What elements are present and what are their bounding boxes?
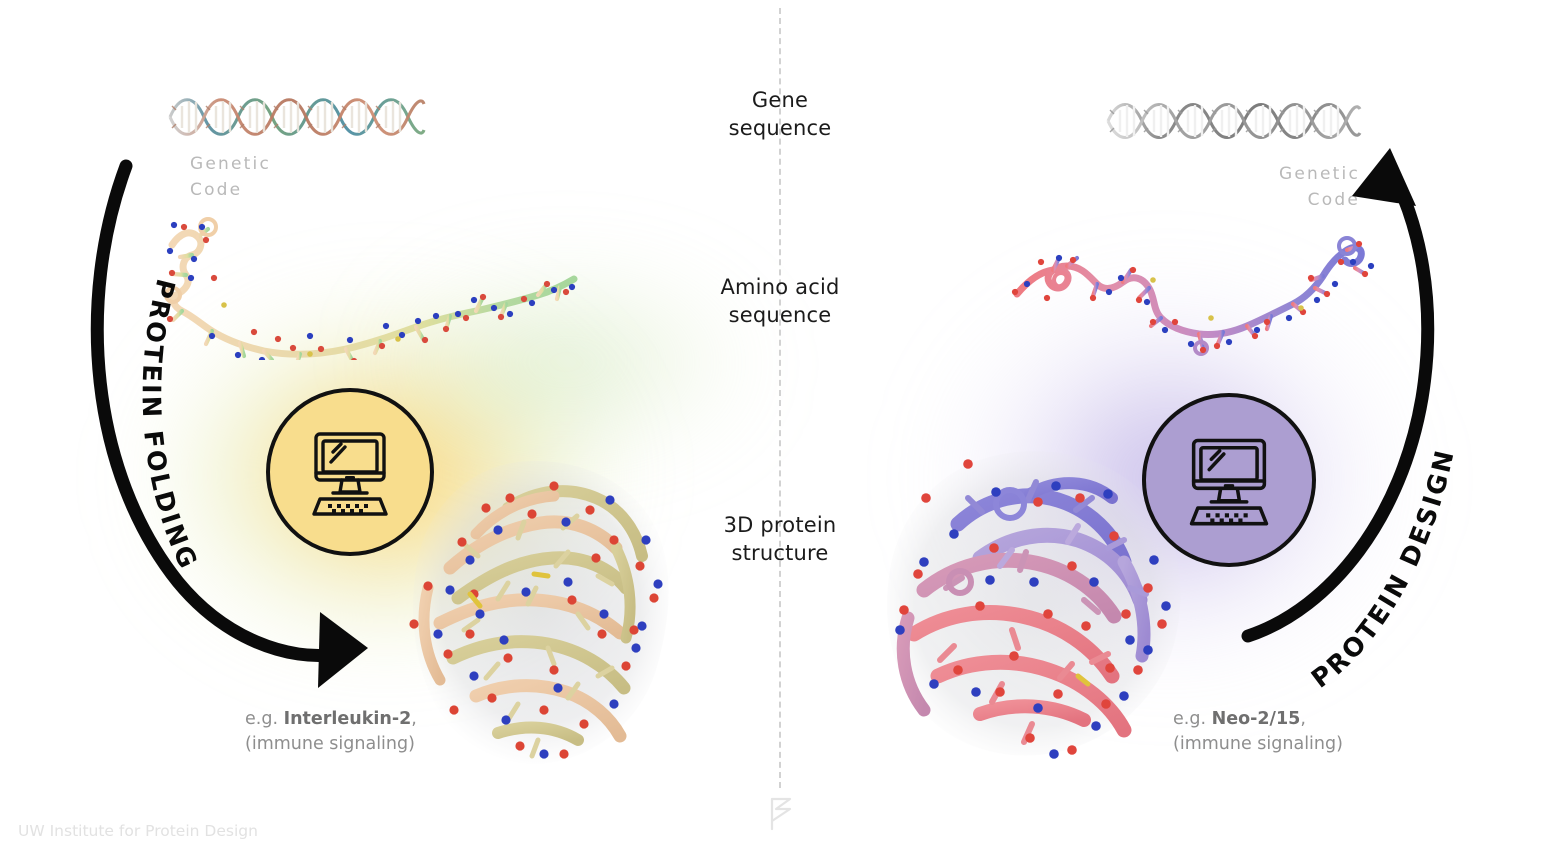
genetic-code-label-right: Genetic Code (1170, 162, 1360, 213)
gene-sequence-line2: sequence (630, 114, 930, 142)
protein-design-label: PROTEIN DESIGN (1306, 446, 1461, 695)
label-3d-protein-structure: 3D protein structure (630, 511, 930, 568)
genetic-code-line1: Genetic (1170, 162, 1360, 188)
genetic-code-line2: Code (190, 178, 271, 204)
caption-protein-name: Neo-2/15 (1212, 709, 1301, 729)
genetic-code-label-left: Genetic Code (190, 152, 271, 203)
amino-acid-line1: Amino acid (630, 273, 930, 301)
caption-line2: (immune signaling) (245, 732, 417, 757)
diagram-canvas: Genetic Code (0, 0, 1560, 849)
caption-suffix: , (411, 709, 417, 729)
caption-prefix: e.g. (245, 709, 284, 729)
extended-peptide-chain-icon (150, 215, 580, 360)
watermark-logo-icon (756, 793, 804, 835)
desktop-computer-icon-design[interactable] (1142, 393, 1316, 567)
desktop-computer-icon (1177, 428, 1281, 532)
example-caption-left: e.g. Interleukin-2, (immune signaling) (245, 707, 417, 757)
caption-prefix: e.g. (1173, 709, 1212, 729)
caption-suffix: , (1300, 709, 1306, 729)
dna-double-helix-color-icon (168, 86, 426, 148)
desktop-computer-icon-folding[interactable] (266, 388, 434, 556)
protein-structure-line1: 3D protein (630, 511, 930, 539)
attribution-text: UW Institute for Protein Design (18, 822, 258, 840)
label-amino-acid-sequence: Amino acid sequence (630, 273, 930, 330)
genetic-code-line2: Code (1170, 188, 1360, 214)
protein-structure-line2: structure (630, 539, 930, 567)
caption-protein-name: Interleukin-2 (284, 709, 412, 729)
protein-design-arrow (1248, 148, 1428, 636)
example-caption-right: e.g. Neo-2/15, (immune signaling) (1173, 707, 1343, 757)
label-gene-sequence: Gene sequence (630, 86, 930, 143)
amino-acid-line2: sequence (630, 301, 930, 329)
caption-line2: (immune signaling) (1173, 732, 1343, 757)
gene-sequence-line1: Gene (630, 86, 930, 114)
dna-double-helix-gray-icon (1104, 92, 1362, 150)
desktop-computer-icon (300, 422, 400, 522)
extended-peptide-chain-icon (1005, 232, 1380, 357)
genetic-code-line1: Genetic (190, 152, 271, 178)
